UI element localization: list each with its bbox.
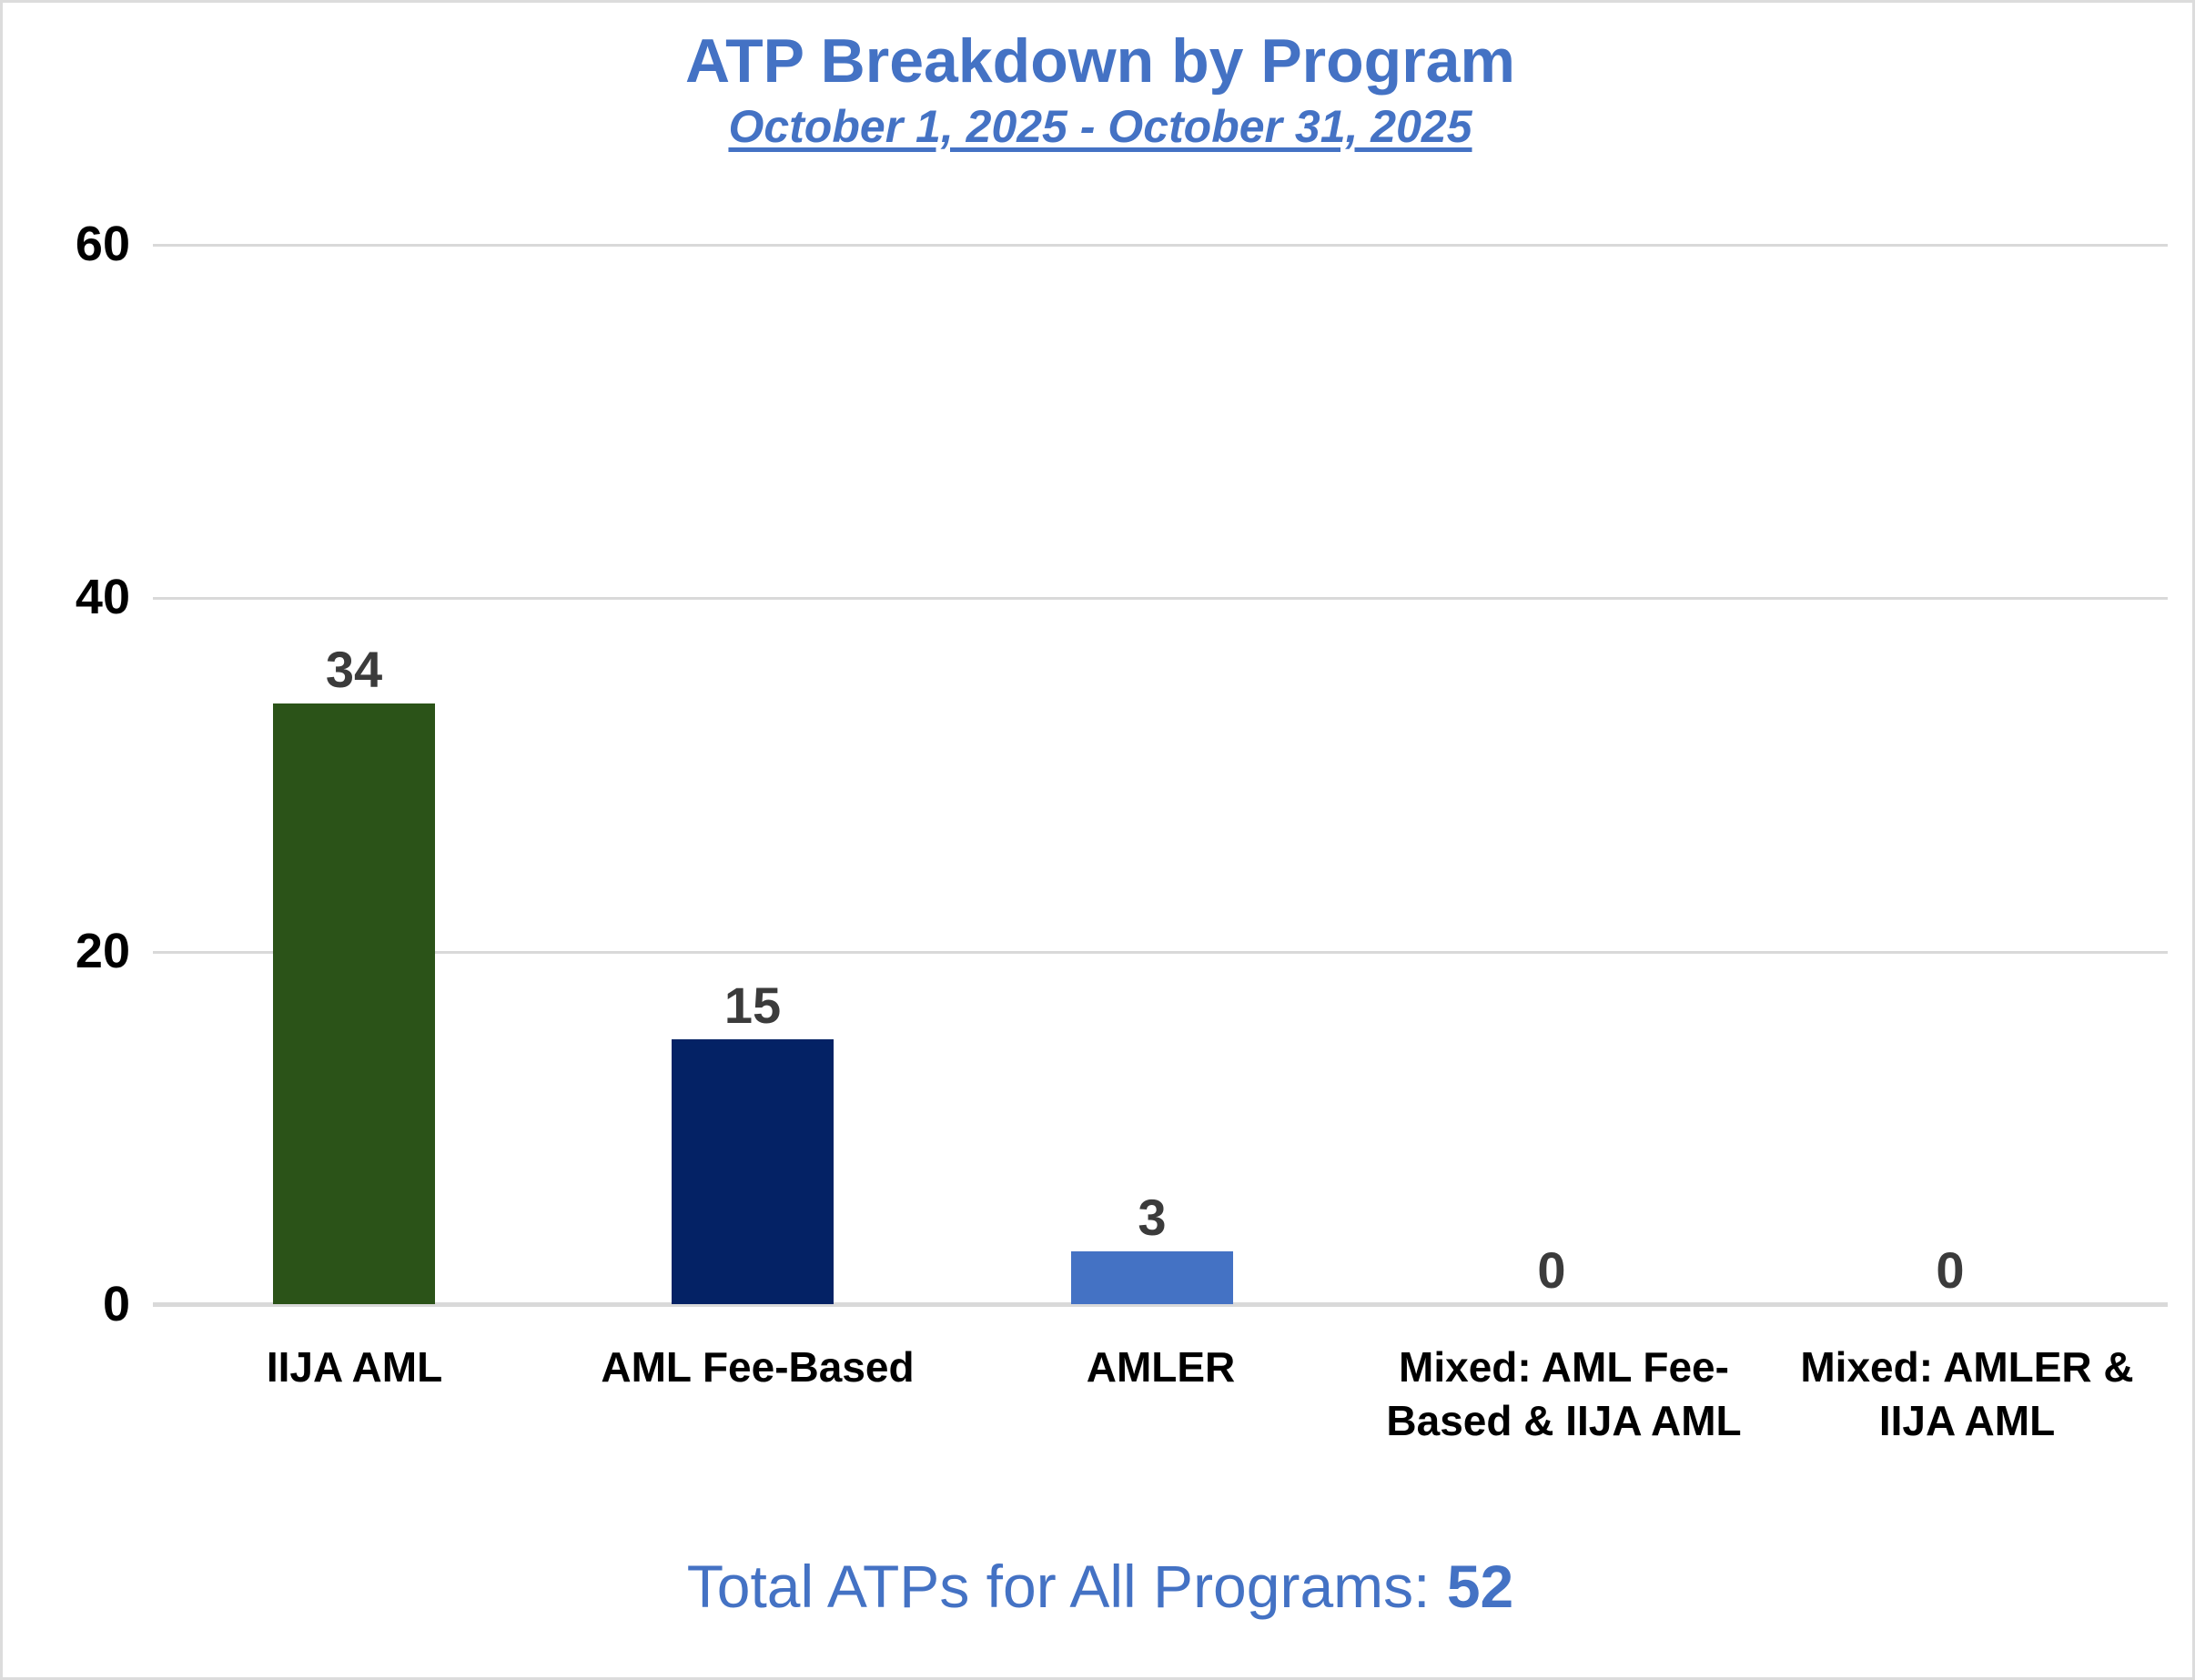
y-tick-label-0: 0 <box>12 1276 130 1332</box>
chart-subtitle: October 1, 2025 - October 31, 2025 <box>3 99 2195 154</box>
bar-value-amler: 3 <box>1071 1188 1233 1247</box>
gridline-60 <box>153 244 2168 247</box>
x-label-line: AMLER <box>959 1341 1362 1394</box>
bar-aml-fee-based[interactable] <box>672 1039 834 1304</box>
footer-total-value: 52 <box>1447 1553 1513 1620</box>
chart-title-block: ATP Breakdown by Program October 1, 2025… <box>3 26 2195 154</box>
footer-total-label: Total ATPs for All Programs: <box>687 1553 1447 1620</box>
x-label-line: Mixed: AML Fee- <box>1362 1341 1765 1394</box>
chart-title: ATP Breakdown by Program <box>3 26 2195 96</box>
bar-value-mixed-amler-iija-aml: 0 <box>1869 1240 2031 1300</box>
bar-value-iija-aml: 34 <box>273 640 435 699</box>
bar-amler[interactable] <box>1071 1251 1233 1304</box>
bar-value-mixed-aml-fee-based-iija-aml: 0 <box>1471 1240 1633 1300</box>
chart-canvas: ATP Breakdown by Program October 1, 2025… <box>0 0 2195 1680</box>
x-label-amler: AMLER <box>959 1341 1362 1394</box>
plot-area: 34 15 3 0 0 <box>153 244 2168 1304</box>
bar-value-aml-fee-based: 15 <box>672 976 834 1035</box>
x-label-line: Mixed: AMLER & <box>1765 1341 2169 1394</box>
bar-iija-aml[interactable] <box>273 703 435 1304</box>
footer-total: Total ATPs for All Programs: 52 <box>3 1552 2195 1621</box>
gridline-40 <box>153 597 2168 600</box>
x-label-mixed-amler-iija-aml: Mixed: AMLER & IIJA AML <box>1765 1341 2169 1448</box>
y-tick-label-20: 20 <box>12 923 130 979</box>
y-tick-label-40: 40 <box>12 569 130 625</box>
x-label-aml-fee-based: AML Fee-Based <box>556 1341 959 1394</box>
x-label-line: IIJA AML <box>1765 1394 2169 1448</box>
x-label-line: Based & IIJA AML <box>1362 1394 1765 1448</box>
x-label-line: AML Fee-Based <box>556 1341 959 1394</box>
x-label-iija-aml: IIJA AML <box>153 1341 556 1394</box>
gridline-20 <box>153 951 2168 954</box>
y-tick-label-60: 60 <box>12 216 130 272</box>
x-label-line: IIJA AML <box>153 1341 556 1394</box>
x-label-mixed-aml-fee-based-iija-aml: Mixed: AML Fee- Based & IIJA AML <box>1362 1341 1765 1448</box>
